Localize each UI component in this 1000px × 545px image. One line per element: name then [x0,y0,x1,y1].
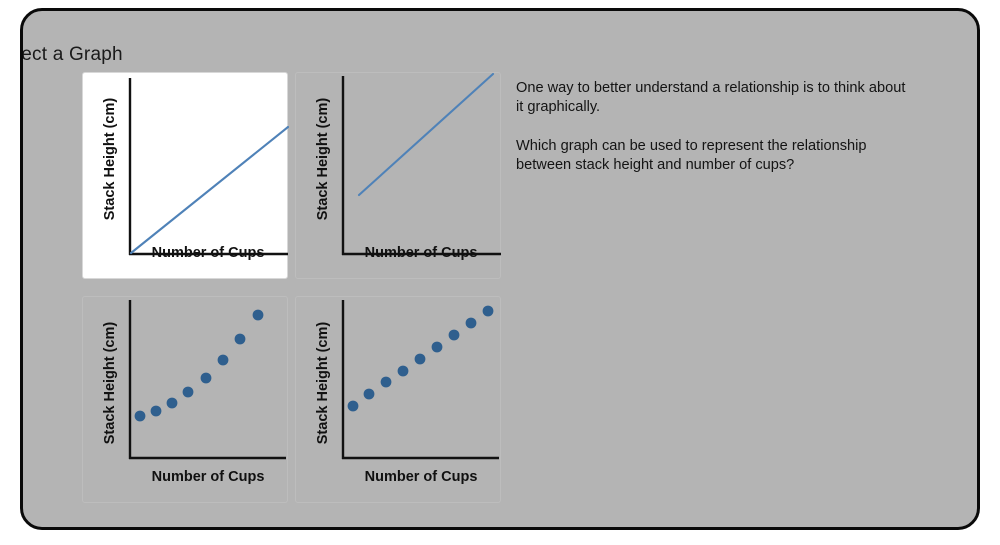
scatter-points [348,306,494,412]
data-point [449,330,460,341]
data-point [381,377,392,388]
data-point [135,411,146,422]
graph-a-y-axis-label: Stack Height (cm) [102,79,118,239]
data-point [483,306,494,317]
data-point [432,342,443,353]
graph-option-c[interactable]: Stack Height (cm) Number of Cups [82,296,288,503]
data-point [253,310,264,321]
page-title-text: Select a Graph [20,44,538,66]
data-point [466,318,477,329]
data-point [398,366,409,377]
trend-line [359,74,493,195]
graph-d-plot: Stack Height (cm) Number of Cups [296,297,500,502]
data-point [348,401,359,412]
data-point [364,389,375,400]
data-point [218,355,229,366]
prompt-paragraph-2: Which graph can be used to represent the… [516,137,916,175]
graph-d-x-axis-label: Number of Cups [340,469,502,485]
graph-a-x-axis-label: Number of Cups [127,245,289,261]
prompt-panel: One way to better understand a relations… [516,79,916,175]
graph-c-x-axis-label: Number of Cups [127,469,289,485]
graph-option-d[interactable]: Stack Height (cm) Number of Cups [295,296,501,503]
graph-d-y-axis-label: Stack Height (cm) [315,303,331,463]
trend-line [131,127,288,253]
data-point [183,387,194,398]
graph-a-plot: Stack Height (cm) Number of Cups [83,73,287,278]
graph-options-grid: Stack Height (cm) Number of Cups Stack H… [82,72,507,492]
graph-option-a[interactable]: Stack Height (cm) Number of Cups [82,72,288,279]
graph-c-y-axis-label: Stack Height (cm) [102,303,118,463]
graph-option-b[interactable]: Stack Height (cm) Number of Cups [295,72,501,279]
prompt-paragraph-1: One way to better understand a relations… [516,79,916,117]
data-point [235,334,246,345]
data-point [415,354,426,365]
graph-b-plot: Stack Height (cm) Number of Cups [296,73,500,278]
graph-c-plot: Stack Height (cm) Number of Cups [83,297,287,502]
scatter-points [135,310,264,422]
data-point [167,398,178,409]
page-title: Select a Graph [23,44,977,66]
graph-b-x-axis-label: Number of Cups [340,245,502,261]
data-point [201,373,212,384]
app-window: Select a Graph Stack Height (cm) Number … [20,8,980,530]
graph-b-y-axis-label: Stack Height (cm) [315,79,331,239]
data-point [151,406,162,417]
